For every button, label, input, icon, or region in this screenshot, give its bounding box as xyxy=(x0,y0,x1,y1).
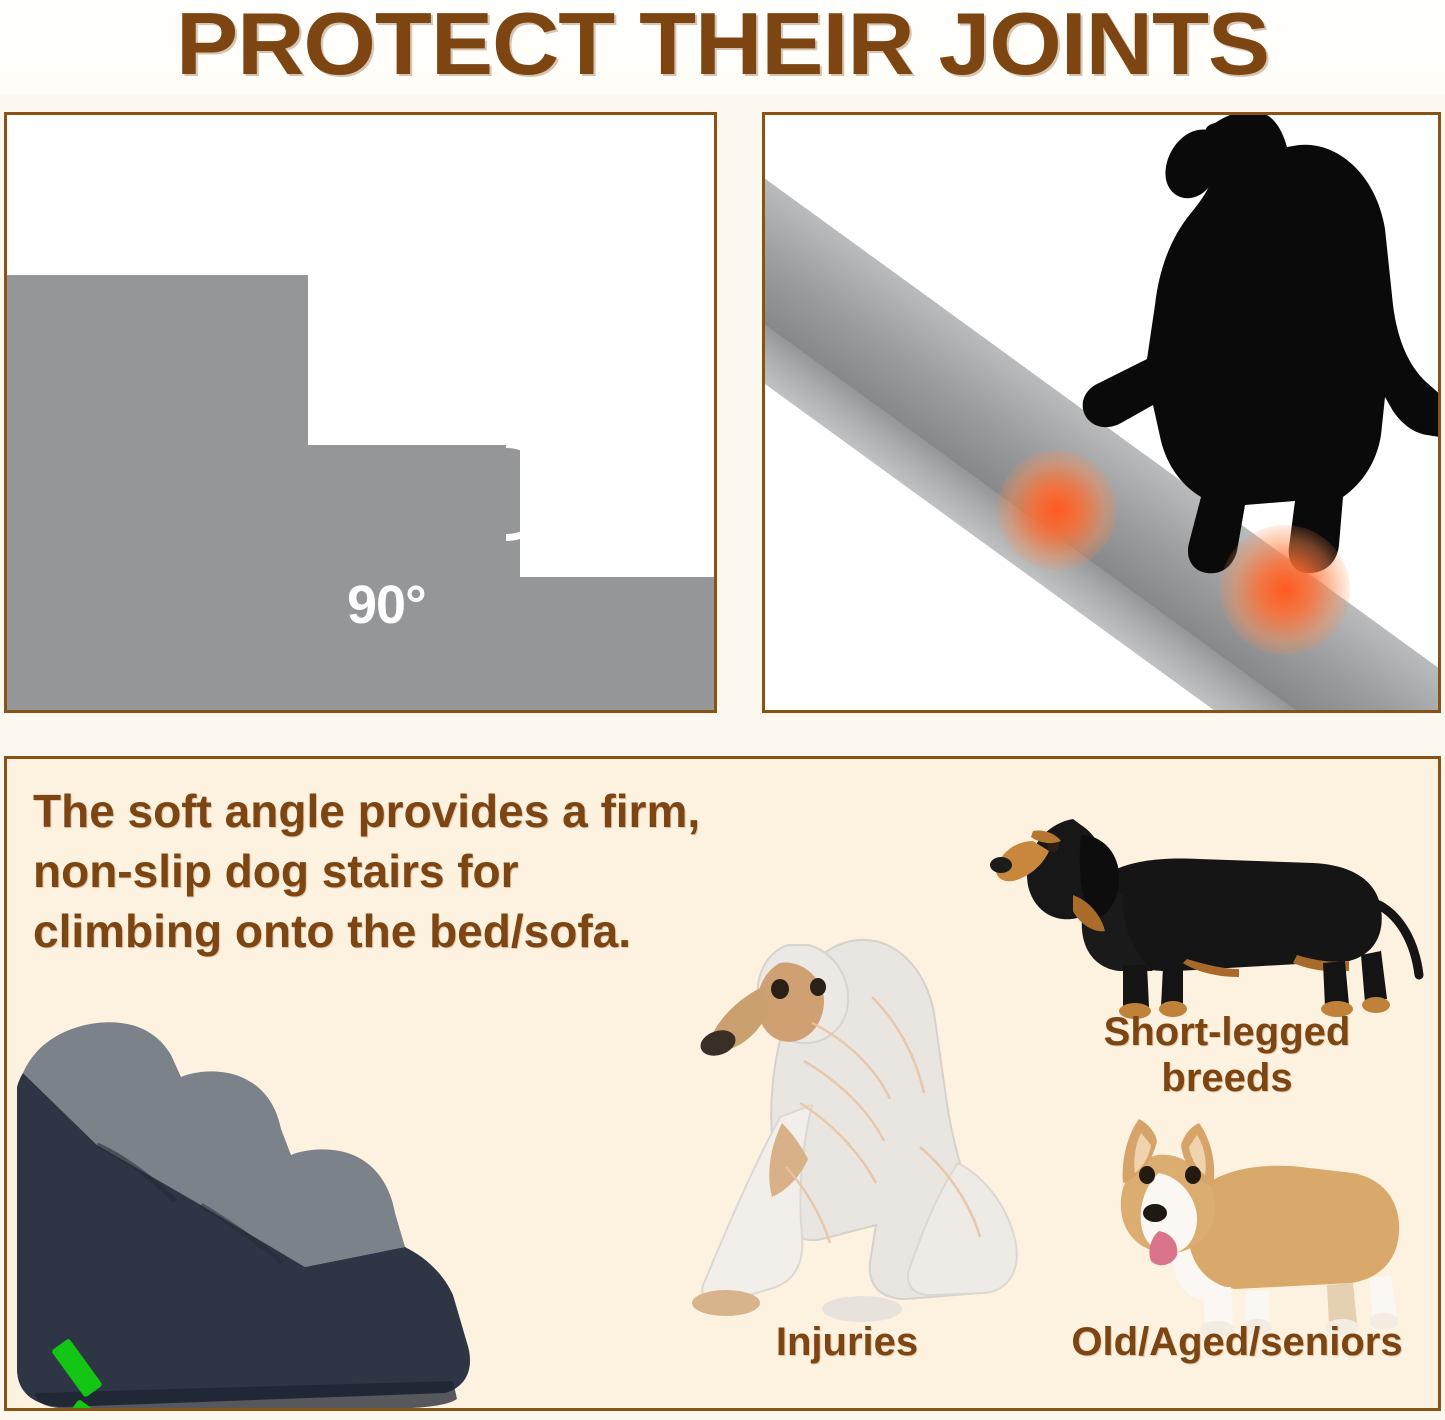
stair-profile-illustration: 90° xyxy=(7,115,714,710)
x-mark-icon xyxy=(31,711,105,713)
stair-step-upper xyxy=(7,275,308,713)
infographic-root: PROTECT THEIR JOINTS 90° Difficulty of c… xyxy=(0,0,1445,1420)
dog-photo-dachshund xyxy=(977,783,1437,1028)
page-title: PROTECT THEIR JOINTS xyxy=(0,0,1445,94)
slope-illustration xyxy=(765,115,1438,710)
angle-label: 90° xyxy=(347,578,426,632)
product-dog-stairs-image xyxy=(5,995,585,1411)
caption-old-aged-seniors: Old/Aged/seniors xyxy=(1037,1319,1437,1365)
caption-short-legged-breeds: Short-legged breeds xyxy=(1067,1009,1387,1101)
stair-step-lower xyxy=(520,577,717,713)
headline-line-3: climbing onto the bed/sofa. xyxy=(33,901,733,961)
caption-injuries: Injuries xyxy=(707,1319,987,1365)
dog-photo-corgi xyxy=(1085,1109,1435,1344)
corgi-illustration xyxy=(1085,1109,1435,1339)
pain-glow-hip xyxy=(1220,525,1350,655)
check-mark-icon xyxy=(43,1307,153,1403)
dachshund-illustration xyxy=(977,783,1437,1023)
panel-slippery-easy-to-fall: Slippery, easy to fall xyxy=(762,112,1441,713)
headline-line-1: The soft angle provides a firm, xyxy=(33,781,733,841)
panel-soft-angle-solution: The soft angle provides a firm, non-slip… xyxy=(4,756,1441,1411)
solution-headline: The soft angle provides a firm, non-slip… xyxy=(33,781,733,961)
dog-silhouette-icon xyxy=(915,112,1441,625)
panel-difficulty-of-climbing: 90° Difficulty of climbing xyxy=(4,112,717,713)
headline-line-2: non-slip dog stairs for xyxy=(33,841,733,901)
x-mark-icon xyxy=(787,711,861,713)
